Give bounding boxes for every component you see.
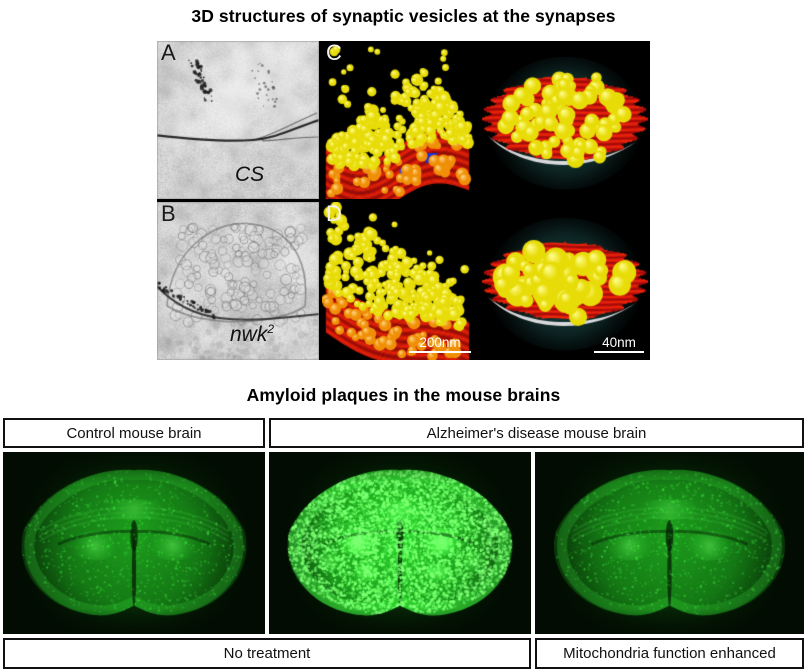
panel-f-3d-reconstruction-top: 40nm bbox=[480, 202, 650, 360]
control-brain-image bbox=[3, 452, 265, 634]
scalebar-200nm: 200nm bbox=[409, 335, 471, 353]
panel-b-electron-micrograph: B nwk2 bbox=[157, 202, 319, 360]
bottom-section-title: Amyloid plaques in the mouse brains bbox=[0, 385, 807, 406]
panel-c-3d-reconstruction: C bbox=[322, 41, 477, 199]
header-alzheimer-mouse-brain: Alzheimer's disease mouse brain bbox=[269, 418, 804, 448]
header-alzheimer-label: Alzheimer's disease mouse brain bbox=[427, 425, 647, 442]
recon-top-cs bbox=[480, 41, 650, 199]
brain-canvas-alzheimer-untreated bbox=[269, 452, 531, 634]
header-control-label: Control mouse brain bbox=[66, 425, 201, 442]
panel-d-3d-reconstruction: D 200nm bbox=[322, 202, 477, 360]
genotype-label-cs: CS bbox=[235, 163, 264, 187]
synaptic-vesicle-figure: A CS B nwk2 C D 200nm 40nm bbox=[157, 41, 650, 360]
scalebar-40nm-text: 40nm bbox=[602, 335, 636, 350]
scalebar-200nm-line bbox=[409, 351, 471, 353]
brain-canvas-alzheimer-treated bbox=[535, 452, 804, 634]
recon-side-cs bbox=[322, 41, 477, 199]
alzheimer-treated-brain-image bbox=[535, 452, 804, 634]
scalebar-40nm: 40nm bbox=[594, 335, 644, 353]
footer-mitochondria-label: Mitochondria function enhanced bbox=[563, 645, 776, 662]
footer-no-treatment-label: No treatment bbox=[224, 645, 311, 662]
genotype-superscript: 2 bbox=[267, 322, 274, 336]
footer-mitochondria-enhanced: Mitochondria function enhanced bbox=[535, 638, 804, 669]
scalebar-40nm-line bbox=[594, 351, 644, 353]
alzheimer-untreated-brain-image bbox=[269, 452, 531, 634]
genotype-text: nwk bbox=[230, 323, 267, 346]
panel-a-electron-micrograph: A CS bbox=[157, 41, 319, 199]
genotype-label-nwk2: nwk2 bbox=[230, 322, 274, 347]
scalebar-200nm-text: 200nm bbox=[419, 335, 460, 350]
panel-e-3d-reconstruction-top bbox=[480, 41, 650, 199]
brain-canvas-control bbox=[3, 452, 265, 634]
top-section-title: 3D structures of synaptic vesicles at th… bbox=[0, 6, 807, 27]
header-control-mouse-brain: Control mouse brain bbox=[3, 418, 265, 448]
footer-no-treatment: No treatment bbox=[3, 638, 531, 669]
